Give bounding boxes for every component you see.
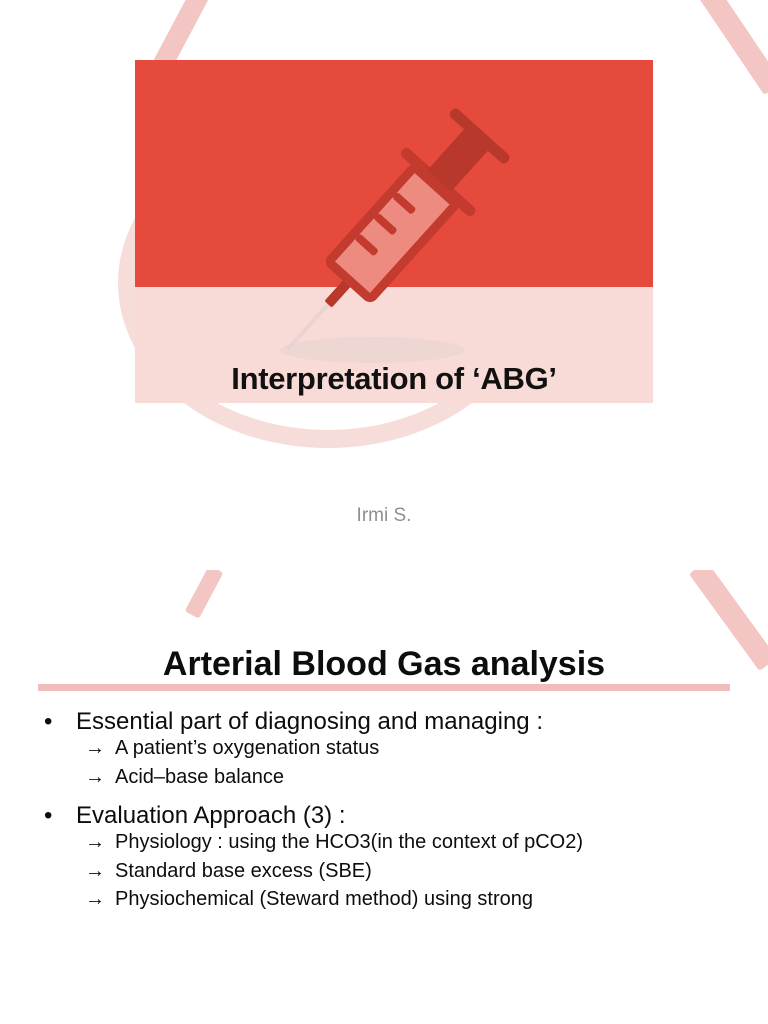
- author-byline: Irmi S.: [0, 505, 768, 527]
- list-item-text: Physiochemical (Steward method) using st…: [115, 888, 533, 910]
- list-item: → Physiochemical (Steward method) using …: [0, 889, 768, 911]
- bullet-dot-icon: •: [44, 710, 52, 735]
- title-slide: Interpretation of ‘ABG’ Irmi S.: [0, 0, 768, 570]
- decorative-stripe-mid-left: [185, 570, 224, 619]
- list-item: • Evaluation Approach (3) :: [0, 804, 768, 829]
- arrow-right-icon: →: [85, 861, 105, 883]
- decorative-stripe-top-right: [692, 0, 768, 95]
- list-item: → Standard base excess (SBE): [0, 861, 768, 883]
- list-item: → Acid–base balance: [0, 767, 768, 789]
- list-item: • Essential part of diagnosing and manag…: [0, 710, 768, 735]
- content-slide: Arterial Blood Gas analysis • Essential …: [0, 570, 768, 1024]
- bullet-list: • Essential part of diagnosing and manag…: [0, 710, 768, 918]
- list-item-text: Acid–base balance: [115, 766, 284, 788]
- list-item-text: Evaluation Approach (3) :: [76, 802, 346, 829]
- list-item: → Physiology : using the HCO3(in the con…: [0, 832, 768, 854]
- list-item: → A patient’s oxygenation status: [0, 738, 768, 760]
- page-title: Interpretation of ‘ABG’: [135, 363, 653, 394]
- list-item-text: A patient’s oxygenation status: [115, 737, 379, 759]
- heading-divider: [38, 684, 730, 691]
- bullet-dot-icon: •: [44, 804, 52, 829]
- section-heading: Arterial Blood Gas analysis: [0, 645, 768, 684]
- list-item-text: Standard base excess (SBE): [115, 860, 372, 882]
- list-item-text: Physiology : using the HCO3(in the conte…: [115, 831, 583, 853]
- arrow-right-icon: →: [85, 767, 105, 789]
- title-image-card: Interpretation of ‘ABG’: [135, 60, 653, 403]
- syringe-photo-panel: [135, 60, 653, 287]
- arrow-right-icon: →: [85, 738, 105, 760]
- list-item-text: Essential part of diagnosing and managin…: [76, 708, 543, 735]
- arrow-right-icon: →: [85, 889, 105, 911]
- arrow-right-icon: →: [85, 832, 105, 854]
